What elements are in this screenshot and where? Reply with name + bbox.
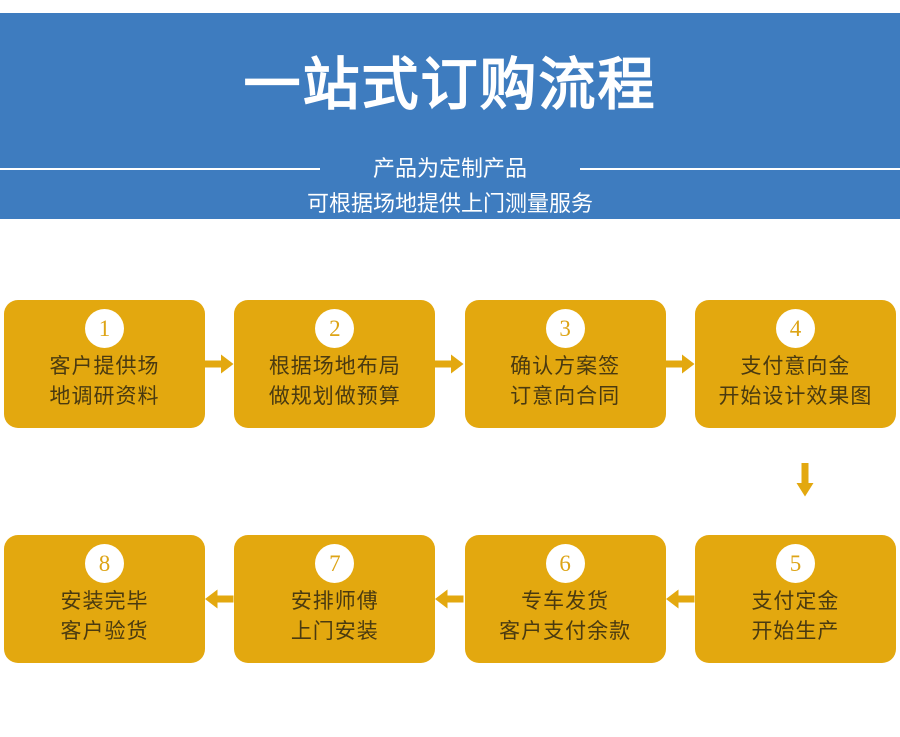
step-number-badge: 2: [315, 309, 354, 348]
flow-step-4[interactable]: 4 支付意向金 开始设计效果图: [695, 300, 896, 428]
step-number-badge: 6: [546, 544, 585, 583]
step-label-line-1: 专车发货: [499, 587, 631, 617]
step-label: 专车发货 客户支付余款: [499, 587, 631, 647]
step-label: 根据场地布局 做规划做预算: [269, 352, 401, 412]
flow-step-7[interactable]: 7 安排师傅 上门安装: [234, 535, 435, 663]
step-label-line-2: 做规划做预算: [269, 382, 401, 412]
step-label-line-1: 支付意向金: [718, 352, 872, 382]
banner-subtitle-line-2: 可根据场地提供上门测量服务: [0, 191, 900, 217]
arrow-left-icon: [666, 535, 695, 663]
flow-step-6[interactable]: 6 专车发货 客户支付余款: [465, 535, 666, 663]
step-label: 安排师傅 上门安装: [291, 587, 379, 647]
flow-step-2[interactable]: 2 根据场地布局 做规划做预算: [234, 300, 435, 428]
step-label-line-2: 客户验货: [61, 617, 149, 647]
step-label-line-2: 开始生产: [751, 617, 839, 647]
step-label: 确认方案签 订意向合同: [510, 352, 620, 412]
arrow-left-icon: [205, 535, 234, 663]
page-title: 一站式订购流程: [0, 57, 900, 114]
flow-step-5[interactable]: 5 支付定金 开始生产: [695, 535, 896, 663]
banner-subtitle-line-1: 产品为定制产品: [0, 156, 900, 182]
step-label-line-1: 确认方案签: [510, 352, 620, 382]
step-number-badge: 7: [315, 544, 354, 583]
step-label-line-1: 安装完毕: [61, 587, 149, 617]
step-label: 支付意向金 开始设计效果图: [718, 352, 872, 412]
arrow-right-icon: [435, 300, 464, 428]
flow-row-top: 1 客户提供场 地调研资料 2 根据场地布局 做规划做预算 3 确认方案签 订意…: [4, 300, 896, 428]
step-number-badge: 1: [85, 309, 124, 348]
step-label-line-1: 客户提供场: [50, 352, 160, 382]
step-number-badge: 4: [776, 309, 815, 348]
step-label-line-2: 客户支付余款: [499, 617, 631, 647]
step-label: 客户提供场 地调研资料: [50, 352, 160, 412]
step-label-line-2: 上门安装: [291, 617, 379, 647]
step-label-line-1: 安排师傅: [291, 587, 379, 617]
step-label-line-2: 开始设计效果图: [718, 382, 872, 412]
arrow-left-icon: [435, 535, 464, 663]
flow-step-1[interactable]: 1 客户提供场 地调研资料: [4, 300, 205, 428]
step-label: 支付定金 开始生产: [751, 587, 839, 647]
step-number-badge: 3: [546, 309, 585, 348]
page-banner: 一站式订购流程 产品为定制产品 可根据场地提供上门测量服务: [0, 13, 900, 219]
flow-step-8[interactable]: 8 安装完毕 客户验货: [4, 535, 205, 663]
step-number-badge: 5: [776, 544, 815, 583]
step-label-line-1: 支付定金: [751, 587, 839, 617]
step-number-badge: 8: [85, 544, 124, 583]
arrow-right-icon: [666, 300, 695, 428]
step-label-line-2: 地调研资料: [50, 382, 160, 412]
step-label-line-2: 订意向合同: [510, 382, 620, 412]
flow-step-3[interactable]: 3 确认方案签 订意向合同: [465, 300, 666, 428]
step-label-line-1: 根据场地布局: [269, 352, 401, 382]
arrow-right-icon: [205, 300, 234, 428]
arrow-down-icon: [793, 462, 817, 498]
flow-row-bottom: 8 安装完毕 客户验货 7 安排师傅 上门安装 6 专车发货 客户支付余款: [4, 535, 896, 663]
step-label: 安装完毕 客户验货: [61, 587, 149, 647]
